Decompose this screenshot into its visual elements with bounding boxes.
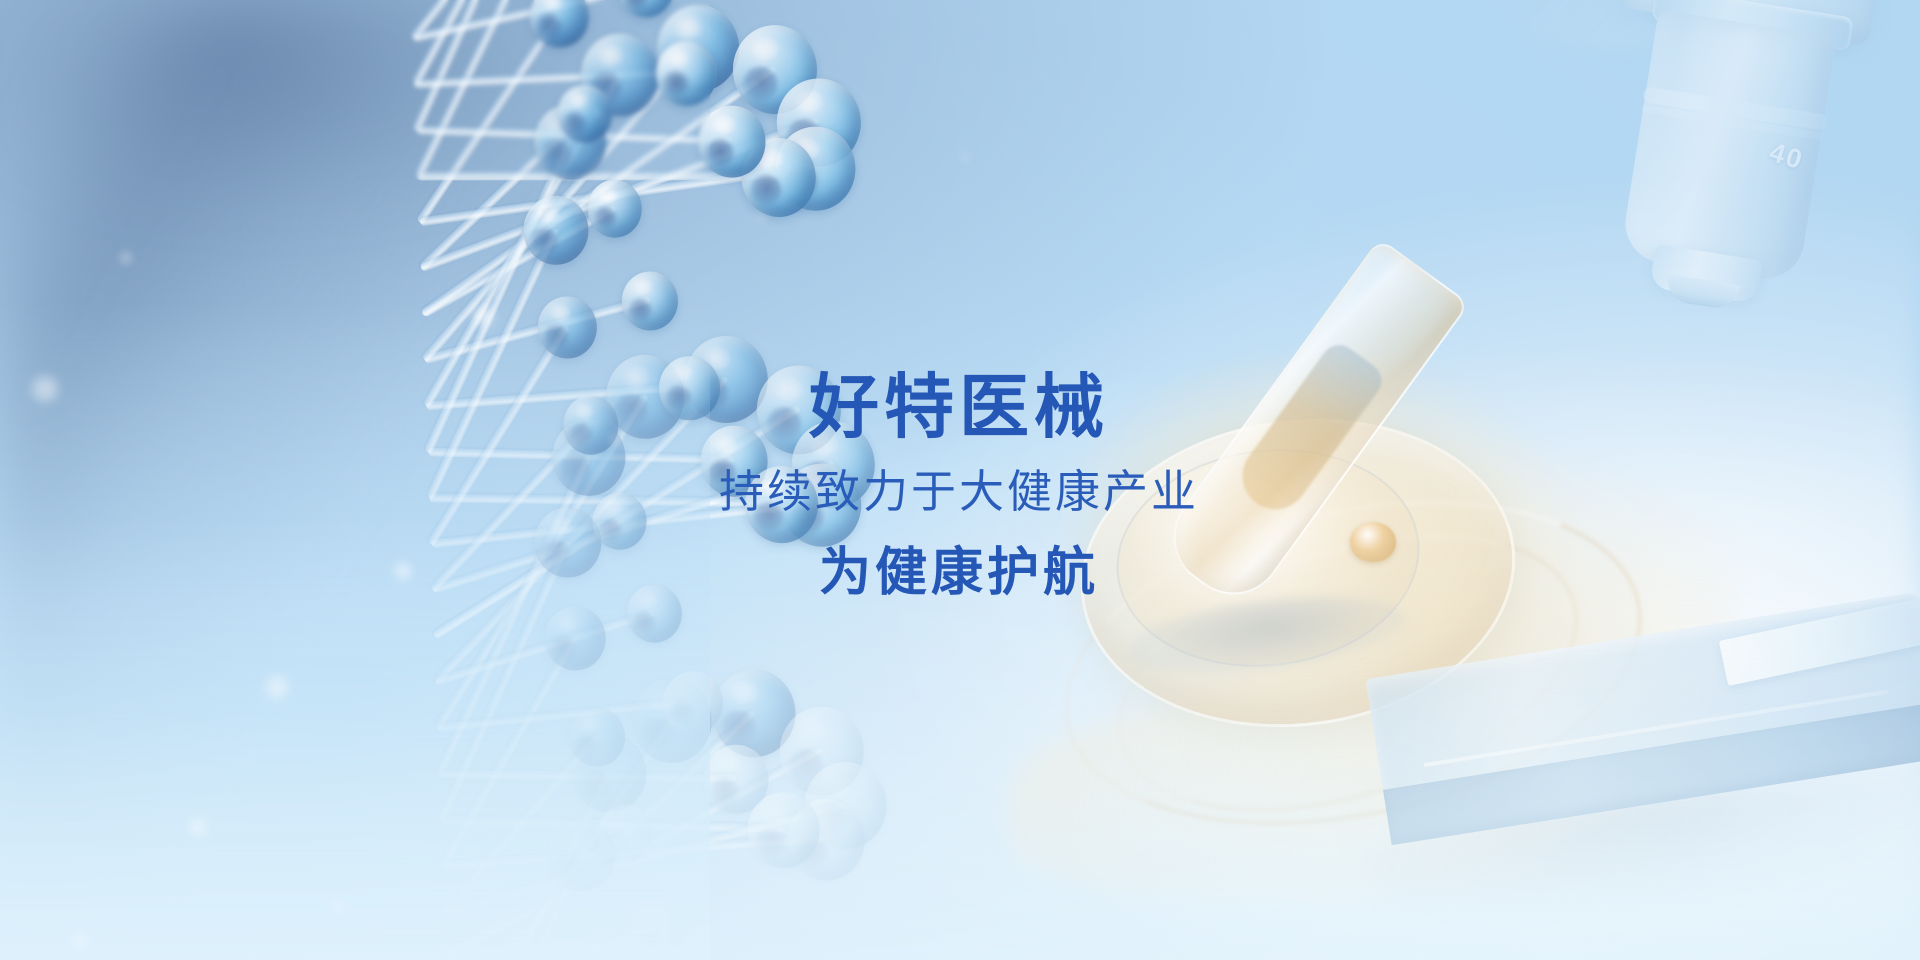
dna-nucleotide-bead [592, 491, 648, 550]
page-title: 好特医械 [719, 371, 1199, 445]
bokeh-dot [958, 150, 972, 164]
page-subtitle: 持续致力于大健康产业 [719, 467, 1199, 517]
dna-nucleotide-bead [662, 670, 724, 735]
dna-nucleotide-bead [625, 583, 682, 644]
dna-nucleotide-bead [617, 0, 676, 19]
dna-helix-illustration [0, 0, 713, 960]
page-slogan: 为健康护航 [719, 546, 1199, 601]
hero-banner: 40 好特医械 持续致力于大健康产业 为健康护航 [0, 0, 1920, 960]
liquid-droplet [1350, 522, 1396, 562]
